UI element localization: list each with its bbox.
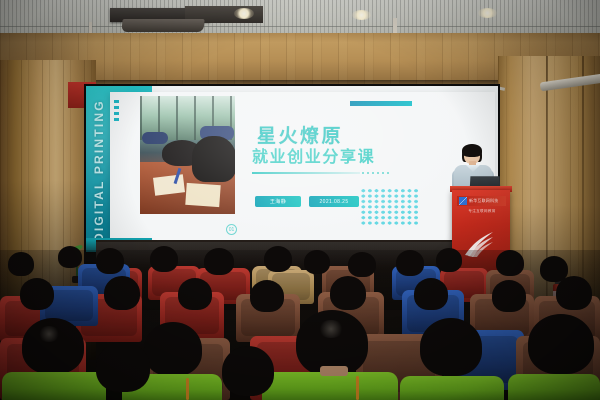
audience-head [204, 248, 234, 275]
photo-seat [142, 132, 168, 144]
slide-title: 星火燎原 [257, 127, 343, 146]
auditorium-photo: DIGITAL PRINTING 星火燎原 就业创业分享课 王海静 2021.0… [0, 0, 600, 400]
audience-head [178, 278, 212, 310]
podium-org-sub: 专注互联网教育 [460, 208, 504, 214]
audience-head [436, 248, 462, 272]
audience-head [104, 276, 140, 310]
head-highlight [38, 326, 60, 342]
slide-presenter-badge: 王海静 [255, 196, 301, 207]
audience-head [96, 342, 150, 392]
audience-head [144, 322, 202, 376]
photo-student-head [192, 136, 235, 182]
audience-head [20, 278, 54, 310]
audience-head [150, 246, 178, 272]
audience-head [250, 280, 284, 312]
audience-head [222, 346, 274, 396]
audience-head [8, 252, 34, 276]
audience-head [528, 314, 594, 374]
audience-head [396, 250, 424, 276]
slide-photo [140, 96, 235, 214]
presenter-hair [462, 144, 482, 157]
lanyard [356, 376, 359, 400]
audience-head [330, 276, 366, 310]
audience-head [348, 252, 376, 277]
ceiling-speaker [121, 19, 204, 32]
audience-head [304, 250, 330, 274]
audience-head [58, 246, 82, 268]
slide-dot-grid [360, 188, 418, 226]
slide-page-number: 01 [226, 224, 237, 235]
audience-head [492, 280, 526, 312]
audience-head [556, 276, 592, 310]
photo-book [185, 183, 220, 207]
photo-book [153, 174, 185, 196]
audience-uniform-shirt [400, 376, 504, 400]
slide-dash-marks [114, 100, 120, 122]
podium-org-name: 新华互联网科技 [469, 198, 498, 204]
downlight [234, 8, 254, 19]
podium-logo-icon [459, 197, 467, 205]
slide-accent-bar [350, 101, 412, 106]
podium-sign: 新华互联网科技 [457, 196, 506, 206]
audience-uniform-shirt [2, 372, 106, 400]
audience-head [96, 248, 124, 274]
audience-head [496, 250, 524, 276]
audience-neck [320, 366, 348, 376]
head-highlight [318, 320, 344, 338]
audience-head [414, 278, 448, 310]
audience-uniform-shirt [508, 374, 600, 400]
lanyard [186, 378, 189, 400]
slide-subtitle-dots [362, 172, 390, 174]
audience-head [420, 318, 482, 376]
slide-subtitle-rule [252, 172, 360, 174]
slide-subtitle: 就业创业分享课 [252, 150, 375, 166]
audience-uniform-shirt [262, 372, 398, 400]
slide-vertical-label: DIGITAL PRINTING [88, 96, 110, 246]
downlight [352, 10, 371, 20]
audience-head [264, 246, 292, 272]
downlight [478, 8, 497, 18]
slide-date-badge: 2021.08.25 [309, 196, 359, 207]
